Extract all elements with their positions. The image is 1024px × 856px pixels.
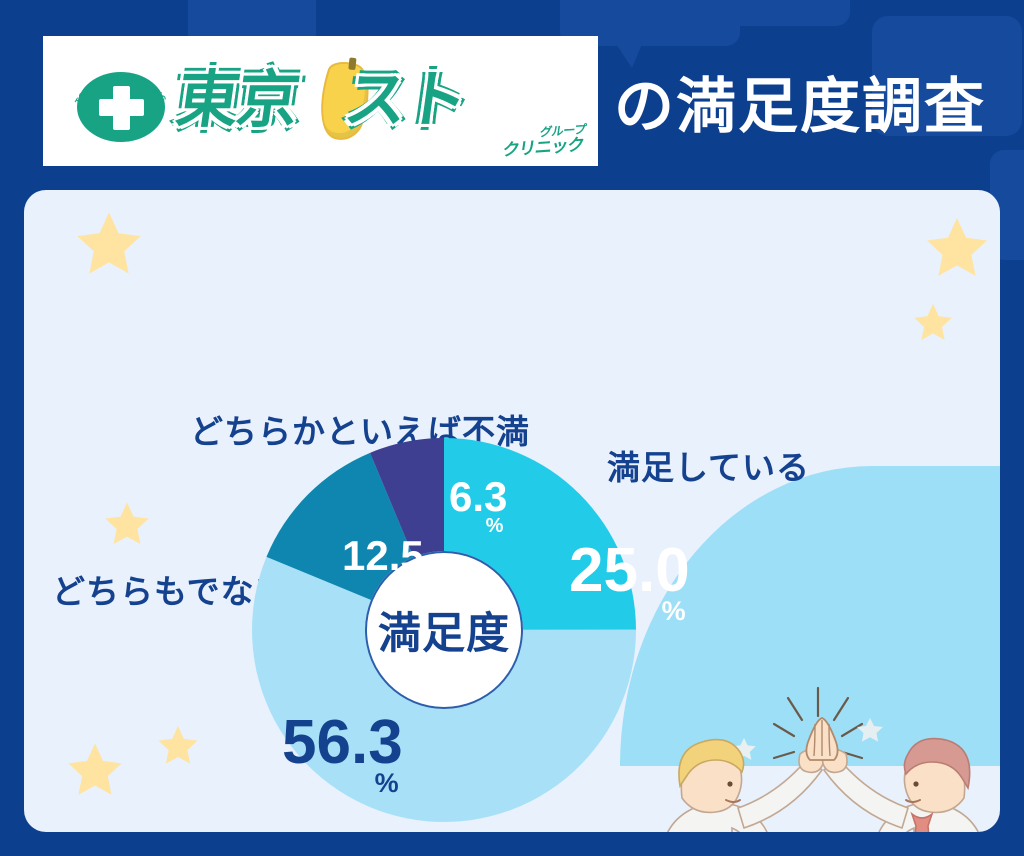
infographic-canvas: TOKYO NOIST CLINIC 東京 スト グループ クリニック の満足度…: [0, 0, 1024, 856]
star-icon: [910, 300, 956, 345]
clinic-logo: TOKYO NOIST CLINIC 東京 スト グループ クリニック: [43, 36, 598, 166]
logo-brand-main: 東京: [173, 70, 302, 132]
person-left: [639, 740, 823, 832]
pie-value-satisfied: 25.0 %: [569, 542, 690, 624]
logo-subtext: グループ クリニック: [501, 123, 586, 159]
pie-center-label: 満足度: [378, 599, 510, 661]
star-icon: [100, 498, 154, 550]
logo-arc-text: TOKYO NOIST CLINIC: [69, 58, 173, 144]
content-panel: どちらかといえば不満 満足している どちらもでない どちらかといえば満足 満足度…: [24, 190, 1000, 832]
logo-arc-label: TOKYO NOIST CLINIC: [73, 72, 169, 106]
svg-text:TOKYO NOIST CLINIC: TOKYO NOIST CLINIC: [73, 72, 169, 106]
page-title: の満足度調査: [614, 58, 986, 145]
star-icon: [62, 738, 128, 802]
pie-value-number: 56.3: [282, 714, 403, 771]
logo-badge: TOKYO NOIST CLINIC: [69, 58, 173, 144]
two-men-high-five-illustration: [622, 676, 1000, 832]
person-right: [823, 739, 1000, 832]
pie-value-number: 6.3: [449, 478, 507, 517]
pie-value-satisfied-leaning: 56.3 %: [282, 714, 403, 796]
pie-value-number: 12.5: [342, 537, 424, 576]
logo-brand-second: スト: [341, 70, 470, 132]
background-bubble-3: [700, 0, 850, 26]
star-icon: [920, 212, 994, 284]
pie-label-satisfied: 満足している: [607, 441, 810, 489]
pie-value-neither: 12.5 %: [342, 537, 424, 594]
star-icon: [70, 206, 148, 282]
star-icon: [154, 722, 202, 769]
pie-value-number: 25.0: [569, 542, 690, 599]
star-icon: [857, 718, 883, 742]
pie-value-dissatisfied-leaning: 6.3 %: [449, 478, 507, 535]
